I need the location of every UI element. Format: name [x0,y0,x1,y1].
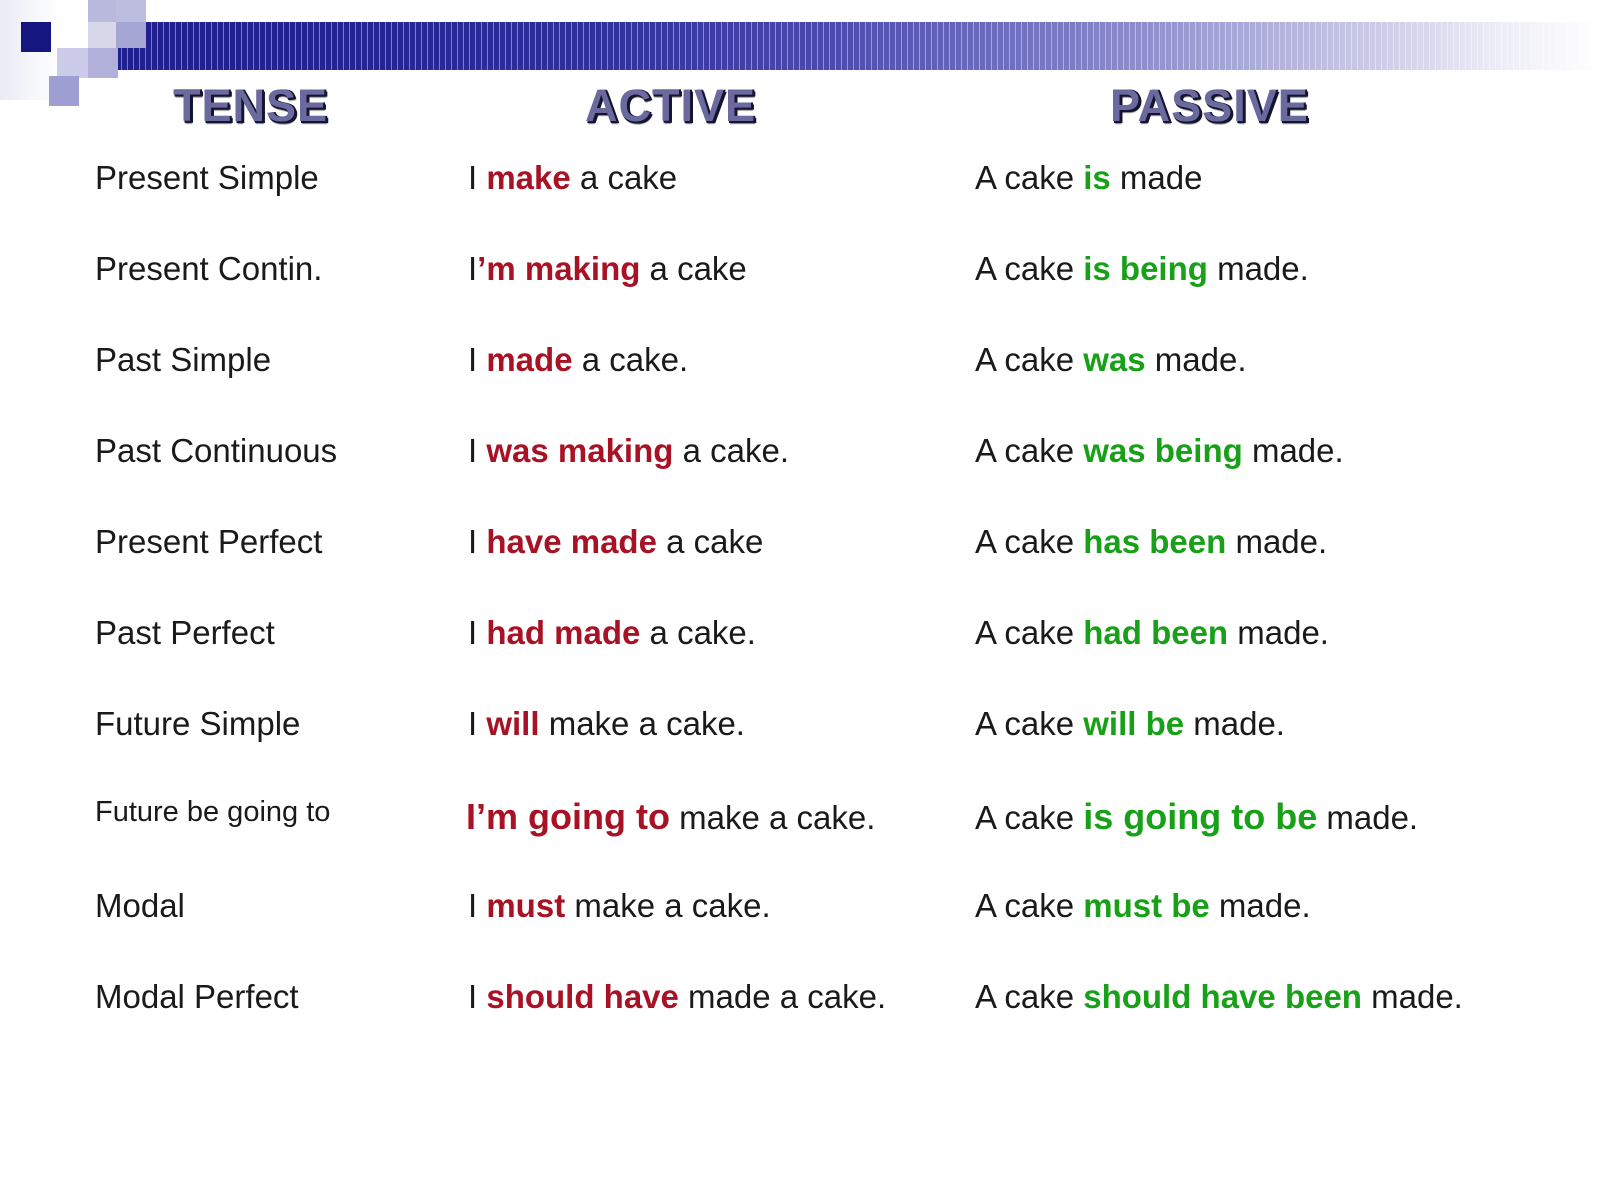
active-suffix-text: a cake. [640,614,756,651]
passive-highlight-text: has been [1083,523,1226,560]
table-row: Past SimpleI made a cake.A cake was made… [0,340,1598,431]
passive-prefix-text: A cake [975,978,1083,1015]
column-header-passive: PASSIVE [1110,80,1309,132]
passive-suffix-text: made. [1243,432,1344,469]
decoration-square-navy [21,22,51,52]
cell-tense: Present Simple [95,158,465,198]
cell-passive: A cake is being made. [975,249,1575,289]
active-highlight-text: was making [486,432,673,469]
active-prefix-text: I [468,341,486,378]
passive-suffix-text: made. [1228,614,1329,651]
passive-prefix-text: A cake [975,887,1083,924]
passive-suffix-text: made. [1184,705,1285,742]
column-header-tense: TENSE [173,80,328,132]
passive-highlight-text: is being [1083,250,1208,287]
passive-highlight-text: had been [1083,614,1228,651]
table-row: Present SimpleI make a cakeA cake is mad… [0,158,1598,249]
cell-passive: A cake had been made. [975,613,1575,653]
table-row: Future SimpleI will make a cake.A cake w… [0,704,1598,795]
cell-passive: A cake should have been made. [975,977,1535,1017]
cell-active: I should have made a cake. [468,977,938,1017]
cell-passive: A cake must be made. [975,886,1575,926]
passive-highlight-text: must be [1083,887,1210,924]
decoration-square-lavender-e [88,48,118,78]
active-suffix-text: make a cake. [540,705,745,742]
passive-prefix-text: A cake [975,523,1083,560]
cell-tense: Past Continuous [95,431,465,471]
cell-active: I’m going to make a cake. [466,795,976,839]
cell-active: I made a cake. [468,340,978,380]
passive-suffix-text: made. [1210,887,1311,924]
cell-tense: Present Perfect [95,522,465,562]
table-row: Future be going toI’m going to make a ca… [0,795,1598,886]
decoration-square-lavender-g [116,22,146,48]
table-row: Present PerfectI have made a cakeA cake … [0,522,1598,613]
passive-highlight-text: is going to be [1083,796,1317,837]
passive-highlight-text: was being [1083,432,1243,469]
active-prefix-text: I [468,523,486,560]
active-highlight-text: will [486,705,539,742]
passive-suffix-text: made. [1317,799,1418,836]
cell-active: I make a cake [468,158,978,198]
active-highlight-text: must [486,887,565,924]
cell-active: I was making a cake. [468,431,978,471]
active-suffix-text: a cake [657,523,763,560]
decoration-gradient-bar [116,22,1598,70]
active-highlight-text: I’m going to [466,796,670,837]
decoration-square-grey-d [88,22,116,48]
decoration-square-lavender-b [57,48,88,78]
passive-prefix-text: A cake [975,799,1083,836]
passive-suffix-text: made [1111,159,1203,196]
active-suffix-text: made a cake. [679,978,886,1015]
table-row: Modal PerfectI should have made a cake.A… [0,977,1598,1077]
passive-suffix-text: made. [1362,978,1463,1015]
cell-passive: A cake will be made. [975,704,1575,744]
active-highlight-text: made [486,341,572,378]
passive-highlight-text: is [1083,159,1111,196]
active-highlight-text: should have [486,978,679,1015]
active-highlight-text: had made [486,614,640,651]
cell-passive: A cake was being made. [975,431,1575,471]
active-prefix-text: I [468,159,486,196]
active-suffix-text: a cake. [673,432,789,469]
decoration-white-notch [146,0,1598,22]
active-highlight-text: have made [486,523,657,560]
cell-tense: Modal [95,886,465,926]
active-prefix-text: I [468,705,486,742]
table-row: Present Contin.I’m making a cakeA cake i… [0,249,1598,340]
cell-passive: A cake is going to be made. [975,795,1575,839]
cell-tense: Past Perfect [95,613,465,653]
cell-active: I must make a cake. [468,886,978,926]
cell-tense: Past Simple [95,340,465,380]
table-row: Past PerfectI had made a cake.A cake had… [0,613,1598,704]
cell-active: I’m making a cake [468,249,978,289]
active-suffix-text: a cake [571,159,677,196]
passive-suffix-text: made. [1226,523,1327,560]
cell-active: I had made a cake. [468,613,978,653]
passive-prefix-text: A cake [975,614,1083,651]
passive-highlight-text: will be [1083,705,1184,742]
cell-tense: Future Simple [95,704,465,744]
column-header-active: ACTIVE [585,80,756,132]
passive-highlight-text: was [1083,341,1145,378]
column-headers: TENSE ACTIVE PASSIVE [0,80,1598,146]
cell-tense: Present Contin. [95,249,465,289]
cell-active: I will make a cake. [468,704,978,744]
passive-suffix-text: made. [1208,250,1309,287]
cell-passive: A cake was made. [975,340,1575,380]
active-prefix-text: I [468,978,486,1015]
active-suffix-text: make a cake. [670,799,875,836]
active-highlight-text: ’m making [477,250,640,287]
active-prefix-text: I [468,432,486,469]
table-row: ModalI must make a cake.A cake must be m… [0,886,1598,977]
passive-prefix-text: A cake [975,341,1083,378]
passive-prefix-text: A cake [975,159,1083,196]
active-highlight-text: make [486,159,570,196]
passive-prefix-text: A cake [975,432,1083,469]
passive-highlight-text: should have been [1083,978,1362,1015]
decoration-square-lavender-f [116,0,146,22]
cell-passive: A cake has been made. [975,522,1575,562]
active-suffix-text: make a cake. [565,887,770,924]
cell-tense: Modal Perfect [95,977,465,1017]
passive-prefix-text: A cake [975,250,1083,287]
cell-tense: Future be going to [95,795,465,830]
active-suffix-text: a cake. [573,341,689,378]
table-row: Past ContinuousI was making a cake.A cak… [0,431,1598,522]
tense-table: Present SimpleI make a cakeA cake is mad… [0,158,1598,1077]
cell-passive: A cake is made [975,158,1575,198]
active-suffix-text: a cake [640,250,746,287]
passive-suffix-text: made. [1146,341,1247,378]
active-prefix-text: I [468,887,486,924]
cell-active: I have made a cake [468,522,978,562]
passive-prefix-text: A cake [975,705,1083,742]
active-prefix-text: I [468,614,486,651]
active-prefix-text: I [468,250,477,287]
